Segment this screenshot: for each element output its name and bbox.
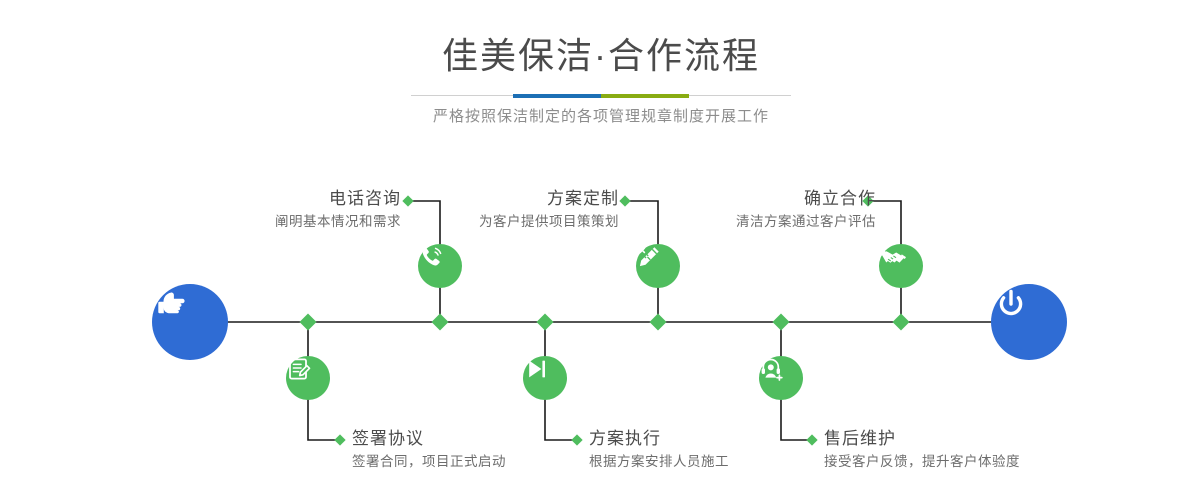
step-node-2[interactable]	[286, 356, 330, 400]
step-desc-6: 接受客户反馈，提升客户体验度	[824, 452, 1020, 472]
timeline-connectors	[0, 0, 1202, 502]
step-desc-5: 清洁方案通过客户评估	[736, 212, 876, 232]
axis-diamond-2	[432, 314, 449, 331]
label-diamond-4	[571, 434, 582, 445]
axis-diamond-3	[537, 314, 554, 331]
axis-diamond-5	[773, 314, 790, 331]
label-diamond-2	[334, 434, 345, 445]
step-label-5: 确立合作 清洁方案通过客户评估	[736, 188, 876, 232]
step-desc-2: 签署合同，项目正式启动	[352, 452, 506, 472]
step-title-1: 电话咨询	[275, 188, 401, 210]
step-desc-3: 为客户提供项目策策划	[479, 212, 619, 232]
axis-diamond-1	[300, 314, 317, 331]
step-node-6[interactable]	[759, 356, 803, 400]
axis-diamond-6	[893, 314, 910, 331]
step-desc-1: 阐明基本情况和需求	[275, 212, 401, 232]
step-title-6: 售后维护	[824, 428, 1020, 450]
label-diamond-markers	[334, 195, 873, 445]
step-node-1[interactable]	[418, 244, 462, 288]
process-flow-timeline: 电话咨询 阐明基本情况和需求 签署协议 签署合同，项目正式启动	[0, 0, 1202, 502]
step-label-2: 签署协议 签署合同，项目正式启动	[352, 428, 506, 472]
step-title-2: 签署协议	[352, 428, 506, 450]
step-title-4: 方案执行	[589, 428, 729, 450]
label-diamond-3	[619, 195, 630, 206]
step-node-3[interactable]	[636, 244, 680, 288]
step-desc-4: 根据方案安排人员施工	[589, 452, 729, 472]
label-diamond-6	[806, 434, 817, 445]
timeline-start-node[interactable]	[152, 284, 228, 360]
step-label-1: 电话咨询 阐明基本情况和需求	[275, 188, 401, 232]
step-node-5[interactable]	[879, 244, 923, 288]
step-title-3: 方案定制	[479, 188, 619, 210]
timeline-end-node[interactable]	[991, 284, 1067, 360]
step-node-4[interactable]	[523, 356, 567, 400]
step-title-5: 确立合作	[736, 188, 876, 210]
axis-diamond-4	[650, 314, 667, 331]
step-label-6: 售后维护 接受客户反馈，提升客户体验度	[824, 428, 1020, 472]
step-label-4: 方案执行 根据方案安排人员施工	[589, 428, 729, 472]
step-label-3: 方案定制 为客户提供项目策策划	[479, 188, 619, 232]
label-diamond-1	[402, 195, 413, 206]
